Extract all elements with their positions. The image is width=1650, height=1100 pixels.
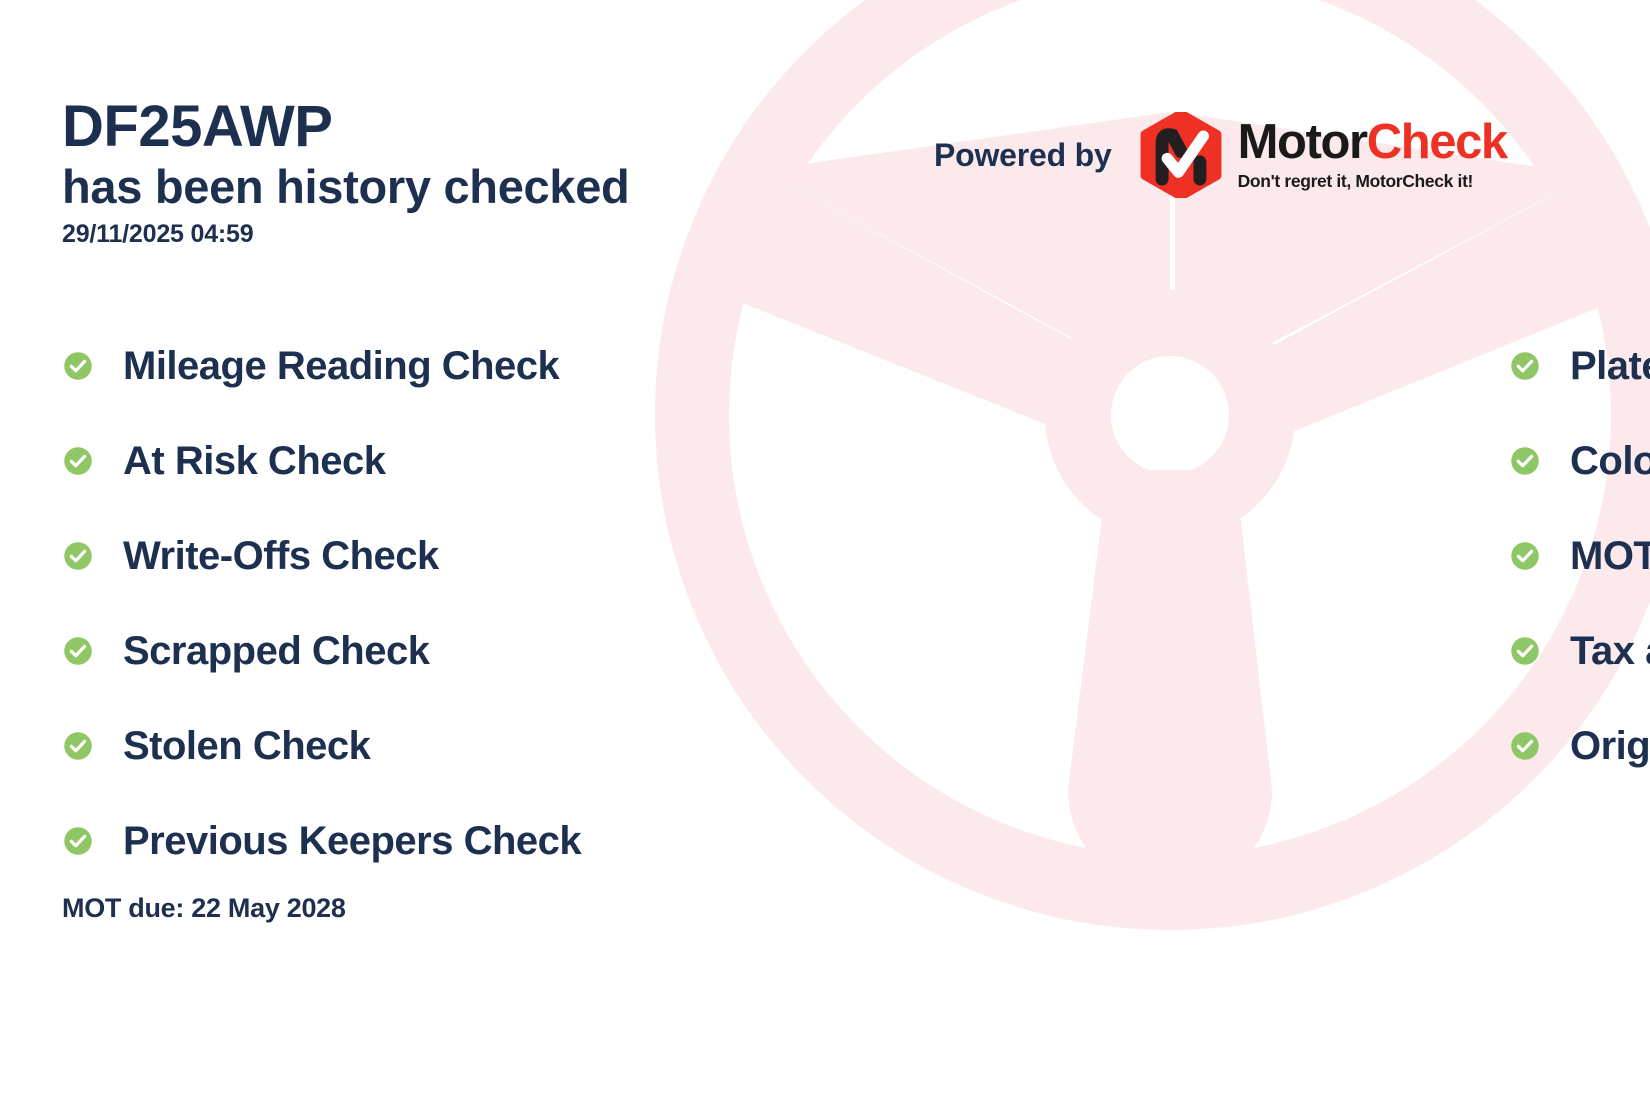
- check-label: Scrapped Check: [123, 631, 429, 671]
- motorcheck-hexagon-icon: [1138, 112, 1224, 198]
- checks-grid: Mileage Reading Check At Risk Check Writ…: [0, 318, 1650, 888]
- check-circle-icon: [1510, 731, 1540, 761]
- check-label: Previous Keepers Check: [123, 821, 581, 861]
- motorcheck-tagline: Don't regret it, MotorCheck it!: [1238, 171, 1507, 192]
- check-circle-icon: [63, 351, 93, 381]
- check-label: Colour Changes Check: [1570, 441, 1650, 481]
- check-item-mileage-reading: Mileage Reading Check: [63, 318, 760, 413]
- check-label: Mileage Reading Check: [123, 346, 559, 386]
- check-item-write-offs: Write-Offs Check: [63, 508, 760, 603]
- check-label: Stolen Check: [123, 726, 370, 766]
- check-item-origin-and-use: Origin and Use Check: [1510, 698, 1650, 793]
- check-label: Plate Change Check: [1570, 346, 1650, 386]
- check-circle-icon: [63, 826, 93, 856]
- page-header: DF25AWP has been history checked 29/11/2…: [62, 96, 629, 249]
- check-circle-icon: [1510, 636, 1540, 666]
- check-circle-icon: [63, 446, 93, 476]
- check-item-plate-change: Plate Change Check: [1510, 318, 1650, 413]
- motorcheck-logo[interactable]: MotorCheck Don't regret it, MotorCheck i…: [1138, 112, 1507, 198]
- wordmark-check: Check: [1367, 115, 1507, 169]
- check-circle-icon: [1510, 541, 1540, 571]
- powered-by-label: Powered by: [934, 137, 1112, 174]
- registration-plate: DF25AWP: [62, 96, 629, 159]
- check-item-tax-and-sorn: Tax and SORN Check: [1510, 603, 1650, 698]
- mot-due-note: MOT due: 22 May 2028: [62, 893, 346, 924]
- check-label: MOT History Check: [1570, 536, 1650, 576]
- history-check-summary-card: DF25AWP has been history checked 29/11/2…: [0, 0, 1650, 1100]
- check-item-stolen: Stolen Check: [63, 698, 760, 793]
- check-item-previous-keepers: Previous Keepers Check: [63, 793, 760, 888]
- check-circle-icon: [1510, 351, 1540, 381]
- check-circle-icon: [63, 636, 93, 666]
- check-label: At Risk Check: [123, 441, 385, 481]
- powered-by-block: Powered by MotorCheck Don't regret it, M…: [934, 112, 1507, 198]
- check-circle-icon: [63, 731, 93, 761]
- page-title: has been history checked: [62, 159, 629, 214]
- check-circle-icon: [1510, 446, 1540, 476]
- check-label: Origin and Use Check: [1570, 726, 1650, 766]
- check-item-scrapped: Scrapped Check: [63, 603, 760, 698]
- checks-column-left: Mileage Reading Check At Risk Check Writ…: [0, 318, 760, 888]
- wordmark-motor: Motor: [1238, 115, 1367, 169]
- check-item-mot-history: MOT History Check: [1510, 508, 1650, 603]
- check-item-at-risk: At Risk Check: [63, 413, 760, 508]
- motorcheck-wordmark: MotorCheck: [1238, 118, 1507, 167]
- checks-column-right: Plate Change Check Colour Changes Check …: [760, 318, 1650, 888]
- check-label: Tax and SORN Check: [1570, 631, 1650, 671]
- check-item-colour-changes: Colour Changes Check: [1510, 413, 1650, 508]
- check-timestamp: 29/11/2025 04:59: [62, 220, 629, 249]
- check-circle-icon: [63, 541, 93, 571]
- check-label: Write-Offs Check: [123, 536, 439, 576]
- motorcheck-wordmark-block: MotorCheck Don't regret it, MotorCheck i…: [1238, 118, 1507, 192]
